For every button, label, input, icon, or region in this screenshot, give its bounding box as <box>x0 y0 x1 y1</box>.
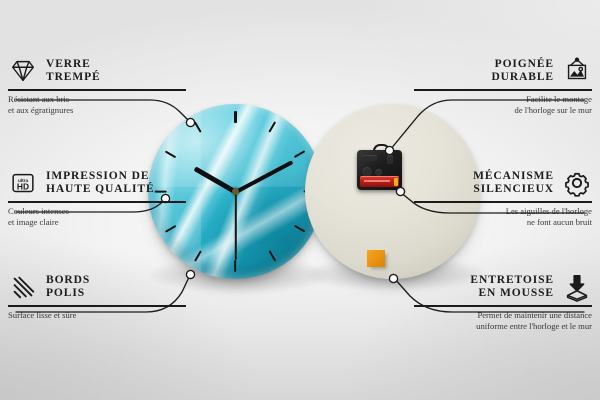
battery <box>360 176 399 187</box>
feature-description: Facilite le montage de l'horloge sur le … <box>414 94 592 116</box>
feature-impression-haute-qualite[interactable]: ultra HD IMPRESSION DE HAUTE QUALITÉ Cou… <box>8 168 186 228</box>
hour-marker <box>294 225 305 233</box>
mechanism-plate <box>362 155 377 161</box>
feature-title: VERRE TREMPÉ <box>46 58 101 85</box>
feature-divider <box>414 89 592 91</box>
feature-divider <box>414 305 592 307</box>
feature-mecanisme-silencieux[interactable]: MÉCANISME SILENCIEUX Les aiguilles de l'… <box>414 168 592 228</box>
hour-marker <box>194 121 202 132</box>
polished-edges-icon <box>8 272 38 302</box>
feature-entretoise-en-mousse[interactable]: ENTRETOISE EN MOUSSE Permet de maintenir… <box>414 272 592 332</box>
feature-title: POIGNÉE DURABLE <box>491 58 554 85</box>
feature-title: IMPRESSION DE HAUTE QUALITÉ <box>46 170 155 197</box>
feature-header: POIGNÉE DURABLE <box>414 56 592 86</box>
mechanism-body <box>357 150 402 190</box>
svg-text:HD: HD <box>17 182 29 192</box>
hour-marker <box>294 150 305 158</box>
hour-marker <box>194 250 202 261</box>
feature-verre-trempe[interactable]: VERRE TREMPÉ Résistant aux bris et aux é… <box>8 56 186 116</box>
feature-divider <box>8 305 186 307</box>
feature-header: VERRE TREMPÉ <box>8 56 186 86</box>
hour-marker <box>234 111 236 123</box>
feature-bords-polis[interactable]: BORDS POLIS Surface lisse et sûre <box>8 272 186 321</box>
feature-header: ENTRETOISE EN MOUSSE <box>414 272 592 302</box>
hands-center-cap <box>232 188 239 195</box>
feature-description: Permet de maintenir une distance uniform… <box>414 310 592 332</box>
feature-title: BORDS POLIS <box>46 274 90 301</box>
feature-title: ENTRETOISE EN MOUSSE <box>470 274 554 301</box>
feature-divider <box>8 201 186 203</box>
foam-spacer <box>367 250 385 267</box>
hour-marker <box>234 260 236 272</box>
hour-marker <box>165 150 176 158</box>
feature-header: ultra HD IMPRESSION DE HAUTE QUALITÉ <box>8 168 186 198</box>
diamond-icon <box>8 56 38 86</box>
second-hand <box>235 192 237 260</box>
feature-divider <box>8 89 186 91</box>
feature-poignee-durable[interactable]: POIGNÉE DURABLE Facilite le montage de l… <box>414 56 592 116</box>
feature-description: Les aiguilles de l'horloge ne font aucun… <box>414 206 592 228</box>
mechanism-shaft <box>387 155 393 164</box>
feature-header: BORDS POLIS <box>8 272 186 302</box>
feature-divider <box>414 201 592 203</box>
mechanism-knob-mid <box>375 169 382 176</box>
infographic-canvas: VERRE TREMPÉ Résistant aux bris et aux é… <box>0 0 600 400</box>
gear-icon <box>562 168 592 198</box>
feature-description: Surface lisse et sûre <box>8 310 186 321</box>
battery-positive-cap <box>394 178 398 186</box>
hanging-frame-icon <box>562 56 592 86</box>
feature-title: MÉCANISME SILENCIEUX <box>473 170 554 197</box>
hour-marker <box>269 250 277 261</box>
hour-marker <box>269 121 277 132</box>
feature-description: Résistant aux bris et aux égratignures <box>8 94 186 116</box>
ultra-hd-icon: ultra HD <box>8 168 38 198</box>
foam-spacer-icon <box>562 272 592 302</box>
battery-stripe <box>364 180 390 182</box>
feature-description: Couleurs intenses et image claire <box>8 206 186 228</box>
feature-header: MÉCANISME SILENCIEUX <box>414 168 592 198</box>
quartz-mechanism <box>357 144 402 190</box>
